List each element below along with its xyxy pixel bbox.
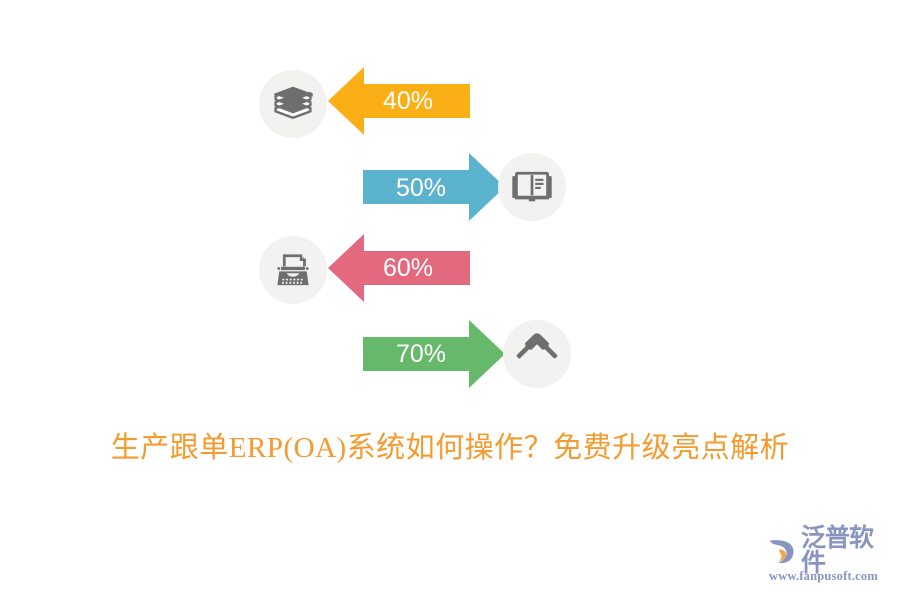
stacked-books-icon <box>271 82 315 126</box>
crossed-hammers-icon-circle <box>503 320 571 388</box>
typewriter-icon <box>271 248 315 292</box>
fanpu-swoosh-icon <box>768 537 798 565</box>
typewriter-icon-circle <box>259 236 327 304</box>
arrow-infographic: 40% 50% <box>0 0 900 420</box>
logo-website-url: www.fanpusoft.com <box>769 569 894 584</box>
percent-label-70: 70% <box>396 342 446 367</box>
percent-label-40: 40% <box>383 89 433 114</box>
crossed-hammers-icon <box>515 332 559 376</box>
percent-label-60: 60% <box>383 256 433 281</box>
page-title: 生产跟单ERP(OA)系统如何操作？免费升级亮点解析 <box>0 424 900 466</box>
percent-label-50: 50% <box>396 176 446 201</box>
open-book-icon <box>510 165 554 209</box>
stacked-books-icon-circle <box>259 70 327 138</box>
logo-main-row: 泛普软件 <box>768 534 894 568</box>
brand-logo[interactable]: 泛普软件 www.fanpusoft.com <box>768 534 894 586</box>
page-canvas: 40% 50% <box>0 0 900 600</box>
open-book-icon-circle <box>498 153 566 221</box>
